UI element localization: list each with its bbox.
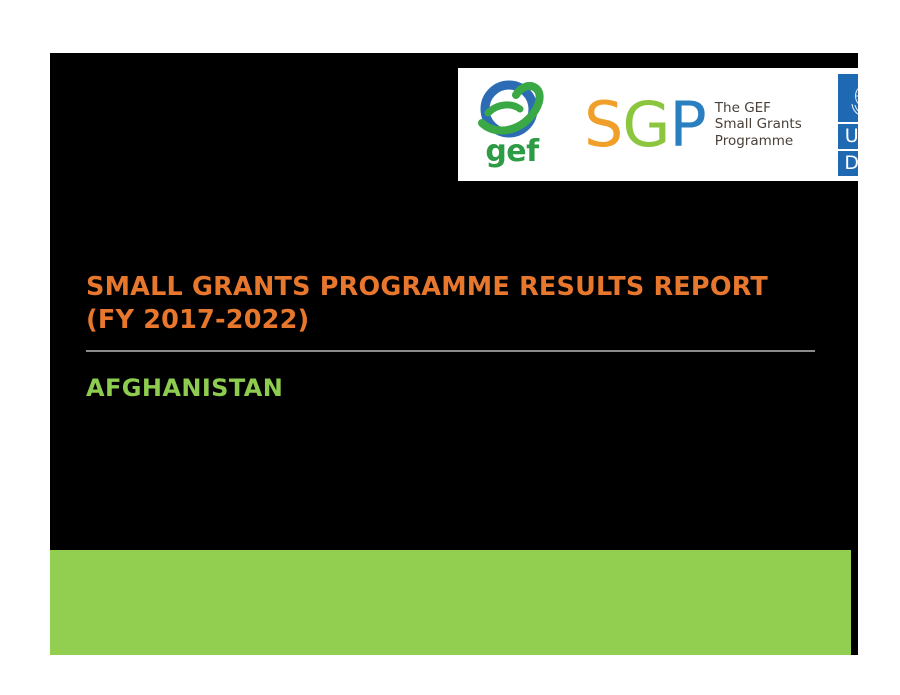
sgp-letter-s: S — [584, 88, 622, 161]
title-block: SMALL GRANTS PROGRAMME RESULTS REPORT (F… — [86, 271, 826, 402]
undp-cell-d: D — [838, 151, 858, 176]
sgp-letter-g: G — [622, 88, 669, 161]
logo-bar: gef SGP The GEF Small Grants Programme — [458, 68, 858, 181]
un-emblem-icon — [838, 74, 858, 122]
undp-letter-grid: U N D P — [838, 124, 858, 176]
sgp-tagline-line-2: Small Grants — [715, 116, 802, 133]
title-slide: gef SGP The GEF Small Grants Programme — [50, 53, 858, 655]
bottom-accent-band — [50, 550, 851, 655]
sgp-tagline-line-3: Programme — [715, 133, 802, 150]
undp-cell-u: U — [838, 124, 858, 149]
sgp-tagline-line-1: The GEF — [715, 100, 802, 117]
page-title: SMALL GRANTS PROGRAMME RESULTS REPORT (F… — [86, 271, 826, 337]
sgp-wordmark: SGP — [584, 94, 706, 156]
gef-wordmark: gef — [464, 137, 560, 167]
sgp-logo: SGP The GEF Small Grants Programme — [584, 94, 802, 156]
gef-logo: gef — [464, 75, 560, 175]
title-divider — [86, 350, 815, 352]
sgp-letter-p: P — [669, 88, 705, 161]
undp-logo: U N D P — [838, 74, 858, 176]
sgp-tagline: The GEF Small Grants Programme — [715, 100, 802, 150]
gef-globe-orbit-icon — [478, 79, 544, 143]
country-subtitle: AFGHANISTAN — [86, 374, 826, 402]
